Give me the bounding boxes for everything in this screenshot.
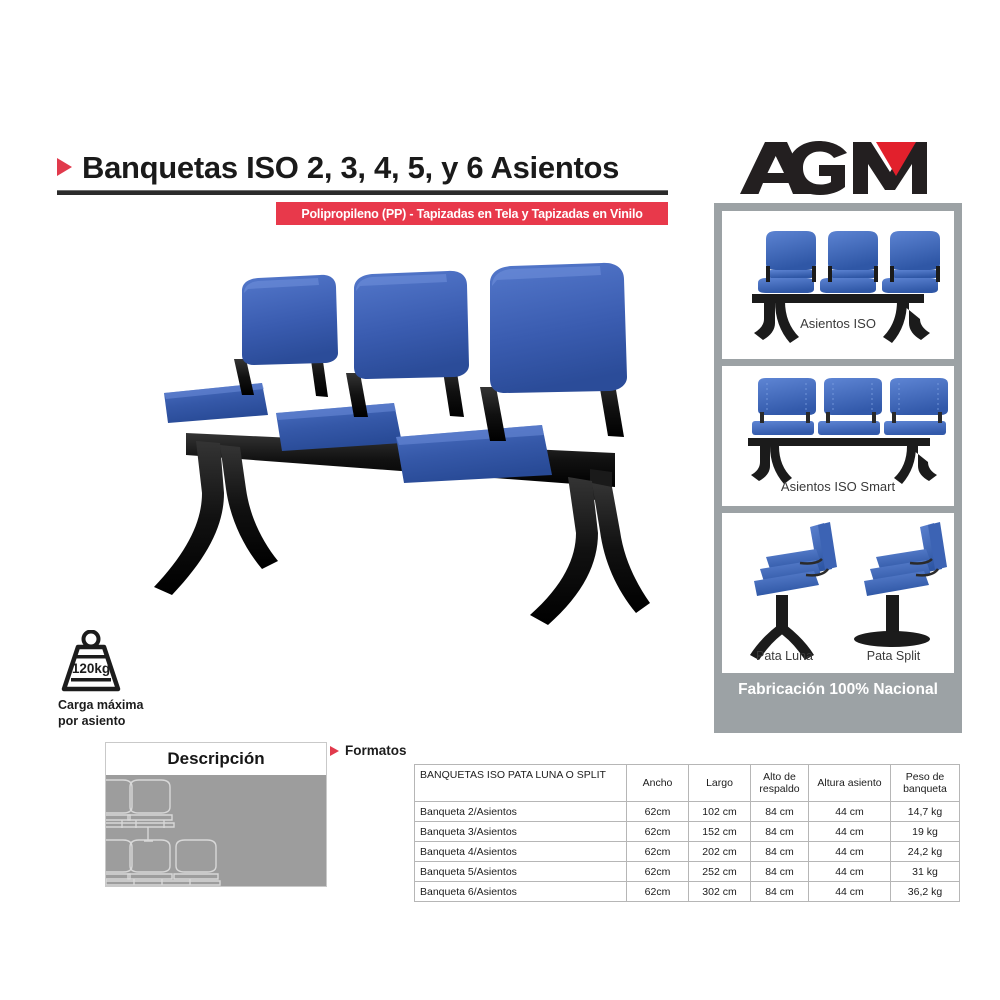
table-cell: 62cm [627,862,689,882]
product-spec-sheet: Banquetas ISO 2, 3, 4, 5, y 6 Asientos P… [0,0,1000,1000]
table-header-cell-4: Altura asiento [809,765,891,802]
table-row: Banqueta 6/Asientos 62cm 302 cm 84 cm 44… [415,882,960,902]
triangle-bullet-icon [57,158,72,176]
table-cell: 102 cm [689,802,751,822]
table-cell: Banqueta 3/Asientos [415,822,627,842]
variant-panel-asientos-iso-smart: Asientos ISO Smart [722,366,954,506]
description-panel: Descripción [105,742,327,887]
table-header-line1: BANQUETAS ISO PATA LUNA O SPLIT [420,769,606,781]
formatos-label: Formatos [330,743,407,758]
table-cell: 302 cm [689,882,751,902]
table-row: Banqueta 5/Asientos 62cm 252 cm 84 cm 44… [415,862,960,882]
table-header-line1: Largo [706,777,733,789]
table-cell: 84 cm [751,882,809,902]
asientos-iso-image [722,211,954,359]
table-header-line1: Altura asiento [817,777,881,789]
page-title-text: Banquetas ISO 2, 3, 4, 5, y 6 Asientos [82,152,619,183]
table-header-line2: respaldo [759,783,799,795]
table-header-cell-2: Largo [689,765,751,802]
weight-icon: 120kg [58,630,124,692]
max-load-block: 120kg Carga máxima por asiento [58,630,228,738]
svg-text:120kg: 120kg [72,661,110,676]
table-header-row: BANQUETAS ISO PATA LUNA O SPLIT Ancho La… [415,765,960,802]
page-title: Banquetas ISO 2, 3, 4, 5, y 6 Asientos [57,146,672,188]
table-cell: 202 cm [689,842,751,862]
variant-panel-asientos-iso: Asientos ISO [722,211,954,359]
variant-caption: Asientos ISO [722,316,954,331]
triangle-bullet-icon [330,746,339,756]
table-cell: Banqueta 2/Asientos [415,802,627,822]
variant-caption: Asientos ISO Smart [722,479,954,494]
description-heading-text: Descripción [167,749,264,769]
max-load-caption-line2: por asiento [58,714,228,730]
table-header-line1: Peso de [906,771,945,783]
table-cell: 44 cm [809,862,891,882]
table-header-cell-0: BANQUETAS ISO PATA LUNA O SPLIT [415,765,627,802]
table-cell: 44 cm [809,842,891,862]
table-cell: 44 cm [809,802,891,822]
table-row: Banqueta 3/Asientos 62cm 152 cm 84 cm 44… [415,822,960,842]
table-header-line1: Alto de [763,771,796,783]
table-header-cell-3: Alto de respaldo [751,765,809,802]
subtitle-text: Polipropileno (PP) - Tapizadas en Tela y… [301,207,642,221]
table-cell: 31 kg [891,862,960,882]
max-load-caption: Carga máxima por asiento [58,698,228,729]
table-cell: 84 cm [751,862,809,882]
variant-caption-pata-split: Pata Split [841,649,946,663]
table-header-cell-1: Ancho [627,765,689,802]
table-header-cell-5: Peso de banqueta [891,765,960,802]
table-cell: 84 cm [751,802,809,822]
table-row: Banqueta 2/Asientos 62cm 102 cm 84 cm 44… [415,802,960,822]
table-cell: Banqueta 4/Asientos [415,842,627,862]
max-load-caption-line1: Carga máxima [58,698,228,714]
table-cell: 14,7 kg [891,802,960,822]
table-header-line1: Ancho [643,777,673,789]
table-cell: 252 cm [689,862,751,882]
subtitle-banner: Polipropileno (PP) - Tapizadas en Tela y… [276,202,668,225]
table-header-line2: banqueta [903,783,947,795]
table-cell: 19 kg [891,822,960,842]
table-cell: 62cm [627,802,689,822]
variant-caption-pata-luna: Pata Luna [732,649,837,663]
table-cell: 62cm [627,882,689,902]
table-cell: 44 cm [809,882,891,902]
table-cell: 62cm [627,842,689,862]
table-cell: 84 cm [751,822,809,842]
title-divider [57,190,668,195]
specifications-table: BANQUETAS ISO PATA LUNA O SPLIT Ancho La… [414,764,960,902]
table-cell: 24,2 kg [891,842,960,862]
sidebar-footer-text: Fabricación 100% Nacional [722,682,954,698]
variants-sidebar: Asientos ISO [714,203,962,733]
table-cell: 36,2 kg [891,882,960,902]
variant-panel-leg-types: Pata Luna Pata Split [722,513,954,673]
agm-logo [735,140,950,196]
table-cell: 44 cm [809,822,891,842]
description-chair-outlines [106,775,326,886]
description-header: Descripción [106,743,326,775]
product-photo-bench-3-seat [150,255,670,625]
table-cell: Banqueta 5/Asientos [415,862,627,882]
table-row: Banqueta 4/Asientos 62cm 202 cm 84 cm 44… [415,842,960,862]
formatos-text: Formatos [345,743,407,758]
table-cell: Banqueta 6/Asientos [415,882,627,902]
table-cell: 84 cm [751,842,809,862]
table-cell: 62cm [627,822,689,842]
table-cell: 152 cm [689,822,751,842]
